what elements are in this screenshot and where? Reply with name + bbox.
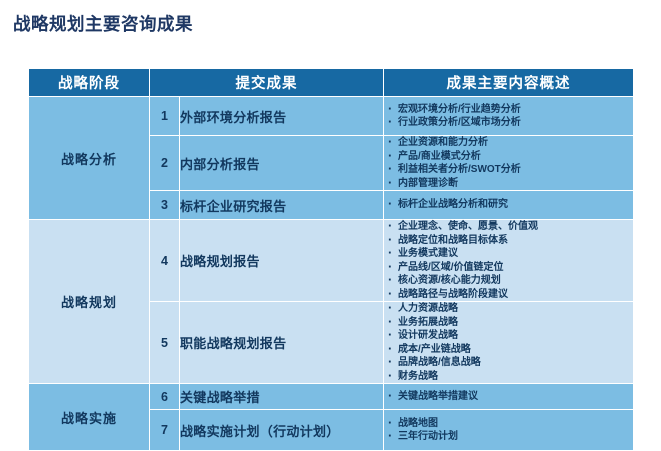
header-stage: 战略阶段 (29, 69, 149, 96)
overview-cell: 企业资源和能力分析 产品/商业模式分析 利益相关者分析/SWOT分析 内部管理诊… (384, 136, 633, 190)
header-deliverable: 提交成果 (150, 69, 383, 96)
table-body: 战略分析 1 外部环境分析报告 宏观环境分析/行业趋势分析 行业政策分析/区域市… (29, 97, 633, 450)
page-title: 战略规划主要咨询成果 (13, 11, 193, 36)
overview-item: 战略路径与战略阶段建议 (384, 288, 633, 302)
overview-item: 成本/产业链战略 (384, 343, 633, 357)
overview-list: 战略地图 三年行动计划 (384, 417, 633, 444)
overview-item: 企业资源和能力分析 (384, 136, 633, 150)
overview-list: 人力资源战略 业务拓展战略 设计研发战略 成本/产业链战略 品牌战略/信息战略 … (384, 302, 633, 383)
deliverable-name: 战略规划报告 (180, 220, 383, 301)
overview-item: 战略定位和战略目标体系 (384, 234, 633, 248)
overview-cell: 战略地图 三年行动计划 (384, 410, 633, 450)
overview-item: 关键战略举措建议 (384, 390, 633, 404)
deliverable-name: 关键战略举措 (180, 384, 383, 409)
overview-item: 产品/商业模式分析 (384, 150, 633, 164)
table-row: 战略规划 4 战略规划报告 企业理念、使命、愿景、价值观 战略定位和战略目标体系… (29, 220, 633, 301)
overview-item: 核心资源/核心能力规划 (384, 274, 633, 288)
deliverable-name: 职能战略规划报告 (180, 302, 383, 383)
stage-cell-analysis: 战略分析 (29, 97, 149, 219)
overview-list: 标杆企业战略分析和研究 (384, 198, 633, 212)
overview-cell: 宏观环境分析/行业趋势分析 行业政策分析/区域市场分析 (384, 97, 633, 135)
overview-item: 设计研发战略 (384, 329, 633, 343)
overview-cell: 关键战略举措建议 (384, 384, 633, 409)
row-number: 4 (150, 220, 179, 301)
overview-item: 品牌战略/信息战略 (384, 356, 633, 370)
overview-list: 企业资源和能力分析 产品/商业模式分析 利益相关者分析/SWOT分析 内部管理诊… (384, 136, 633, 190)
overview-item: 业务拓展战略 (384, 316, 633, 330)
row-number: 3 (150, 191, 179, 219)
deliverable-name: 外部环境分析报告 (180, 97, 383, 135)
deliverable-name: 战略实施计划（行动计划） (180, 410, 383, 450)
results-table-container: 战略阶段 提交成果 成果主要内容概述 战略分析 1 外部环境分析报告 宏观环境分… (28, 68, 633, 451)
overview-item: 利益相关者分析/SWOT分析 (384, 163, 633, 177)
table-header-row: 战略阶段 提交成果 成果主要内容概述 (29, 69, 633, 96)
table-row: 战略分析 1 外部环境分析报告 宏观环境分析/行业趋势分析 行业政策分析/区域市… (29, 97, 633, 135)
row-number: 2 (150, 136, 179, 190)
overview-item: 人力资源战略 (384, 302, 633, 316)
row-number: 1 (150, 97, 179, 135)
overview-list: 宏观环境分析/行业趋势分析 行业政策分析/区域市场分析 (384, 103, 633, 130)
overview-item: 宏观环境分析/行业趋势分析 (384, 103, 633, 117)
row-number: 7 (150, 410, 179, 450)
row-number: 6 (150, 384, 179, 409)
overview-item: 三年行动计划 (384, 430, 633, 444)
header-overview: 成果主要内容概述 (384, 69, 633, 96)
overview-list: 关键战略举措建议 (384, 390, 633, 404)
overview-item: 战略地图 (384, 417, 633, 431)
overview-item: 业务模式建议 (384, 247, 633, 261)
overview-item: 内部管理诊断 (384, 177, 633, 191)
table-row: 战略实施 6 关键战略举措 关键战略举措建议 (29, 384, 633, 409)
consulting-results-table: 战略阶段 提交成果 成果主要内容概述 战略分析 1 外部环境分析报告 宏观环境分… (28, 68, 634, 451)
stage-cell-planning: 战略规划 (29, 220, 149, 383)
deliverable-name: 内部分析报告 (180, 136, 383, 190)
overview-item: 标杆企业战略分析和研究 (384, 198, 633, 212)
deliverable-name: 标杆企业研究报告 (180, 191, 383, 219)
overview-item: 产品线/区域/价值链定位 (384, 261, 633, 275)
overview-item: 行业政策分析/区域市场分析 (384, 116, 633, 130)
overview-cell: 标杆企业战略分析和研究 (384, 191, 633, 219)
overview-list: 企业理念、使命、愿景、价值观 战略定位和战略目标体系 业务模式建议 产品线/区域… (384, 220, 633, 301)
overview-cell: 人力资源战略 业务拓展战略 设计研发战略 成本/产业链战略 品牌战略/信息战略 … (384, 302, 633, 383)
overview-item: 财务战略 (384, 370, 633, 384)
row-number: 5 (150, 302, 179, 383)
overview-item: 企业理念、使命、愿景、价值观 (384, 220, 633, 234)
overview-cell: 企业理念、使命、愿景、价值观 战略定位和战略目标体系 业务模式建议 产品线/区域… (384, 220, 633, 301)
stage-cell-implementation: 战略实施 (29, 384, 149, 450)
